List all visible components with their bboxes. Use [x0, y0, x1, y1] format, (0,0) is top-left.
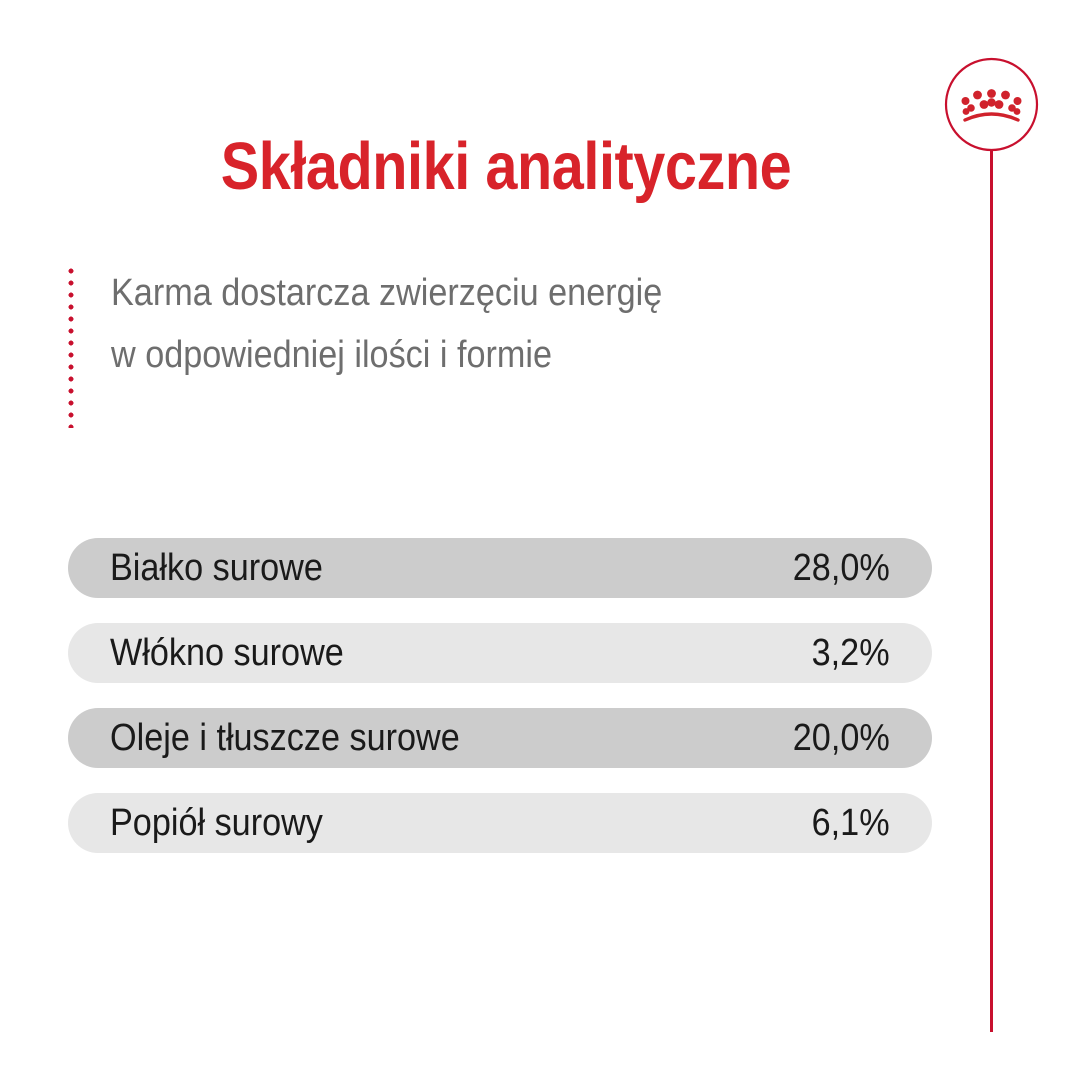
constituent-row: Oleje i tłuszcze surowe 20,0% [68, 708, 932, 768]
brand-stem-line [990, 151, 993, 1032]
constituent-label: Włókno surowe [110, 634, 344, 672]
subtitle-line-2: w odpowiedniej ilości i formie [111, 324, 662, 386]
page-title: Składniki analityczne [71, 133, 941, 200]
subtitle-block: Karma dostarcza zwierzęciu energię w odp… [68, 262, 828, 428]
constituent-label: Białko surowe [110, 549, 323, 587]
constituent-label: Popiół surowy [110, 804, 323, 842]
constituent-row: Białko surowe 28,0% [68, 538, 932, 598]
constituent-label: Oleje i tłuszcze surowe [110, 719, 460, 757]
constituent-row: Popiół surowy 6,1% [68, 793, 932, 853]
subtitle-line-1: Karma dostarcza zwierzęciu energię [111, 262, 662, 324]
analytical-constituents-page: Składniki analityczne Karma dostarcza zw… [0, 0, 1080, 1080]
royal-canin-crown-logo [944, 57, 1039, 152]
analytical-constituents-list: Białko surowe 28,0% Włókno surowe 3,2% O… [68, 538, 932, 853]
constituent-row: Włókno surowe 3,2% [68, 623, 932, 683]
constituent-value: 3,2% [812, 634, 890, 672]
constituent-value: 28,0% [793, 549, 890, 587]
crown-logo-circle [944, 57, 1039, 152]
constituent-value: 20,0% [793, 719, 890, 757]
subtitle-text: Karma dostarcza zwierzęciu energię w odp… [111, 262, 662, 386]
constituent-value: 6,1% [812, 804, 890, 842]
dotted-rule-decoration [68, 268, 74, 428]
